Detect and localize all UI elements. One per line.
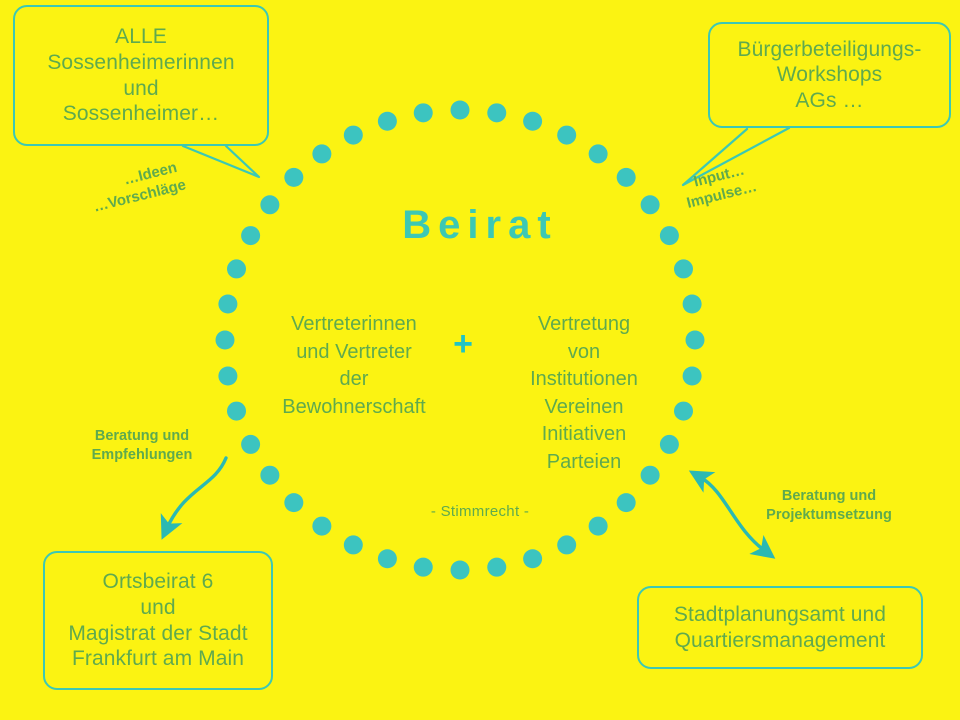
arrow-label-left-line-2: Empfehlungen [80,446,204,465]
ring-dot [216,331,235,350]
arrow-label-beratung-empfehlungen: Beratung und Empfehlungen [80,427,204,465]
ring-dot [557,535,576,554]
tail-label-ideen-vorschlaege: …Ideen …Vorschläge [122,158,188,209]
center-right-line-3: Institutionen [500,366,668,394]
center-left-line-1: Vertreterinnen [270,311,438,339]
ring-dot [241,435,260,454]
bubble-citizens-line-4: Sossenheimer… [63,101,220,127]
bubble-workshops-line-3: AGs … [795,88,863,114]
center-right-line-1: Vertretung [500,311,668,339]
ring-dot [686,331,705,350]
arrow-label-left-line-1: Beratung und [80,427,204,446]
ring-dot [451,101,470,120]
box-ortsbeirat-line-4: Frankfurt am Main [72,646,244,672]
box-stadtplanung-line-2: Quartiersmanagement [675,628,886,654]
center-column-left: Vertreterinnen und Vertreter der Bewohne… [270,311,438,421]
box-ortsbeirat-line-1: Ortsbeirat 6 [103,569,214,595]
center-left-line-4: Bewohnerschaft [270,394,438,422]
bubble-citizens-line-2: Sossenheimerinnen [47,50,234,76]
center-right-line-6: Parteien [500,449,668,477]
arrow-label-beratung-projektumsetzung: Beratung und Projektumsetzung [746,487,912,525]
center-title-beirat: Beirat [0,203,960,248]
box-ortsbeirat-magistrat[interactable]: Ortsbeirat 6 und Magistrat der Stadt Fra… [43,551,273,690]
ring-dot [683,366,702,385]
box-ortsbeirat-line-3: Magistrat der Stadt [68,621,247,647]
bubble-citizens-line-1: ALLE [115,24,167,50]
ring-dot [683,295,702,314]
ring-dot [487,558,506,577]
center-right-line-5: Initiativen [500,421,668,449]
ring-dot [617,168,636,187]
ring-dot [557,126,576,145]
ring-dot [218,295,237,314]
center-left-line-3: der [270,366,438,394]
center-right-line-2: von [500,339,668,367]
speech-bubble-workshops[interactable]: Bürgerbeteiligungs- Workshops AGs … [708,22,951,128]
bubble-workshops-line-1: Bürgerbeteiligungs- [737,37,921,63]
ring-dot [378,549,397,568]
ring-dot [260,466,279,485]
ring-dot [227,402,246,421]
ring-dot [344,126,363,145]
arrow-label-right-line-1: Beratung und [746,487,912,506]
center-left-line-2: und Vertreter [270,339,438,367]
ring-dot [284,168,303,187]
center-right-line-4: Vereinen [500,394,668,422]
bubble-citizens-line-3: und [123,76,158,102]
ring-dot [674,402,693,421]
ring-dot [487,103,506,122]
arrow-label-right-line-2: Projektumsetzung [746,506,912,525]
ring-dot [674,259,693,278]
ring-dot [344,535,363,554]
box-stadtplanungsamt-quartiersmanagement[interactable]: Stadtplanungsamt und Quartiersmanagement [637,586,923,669]
ring-dot [414,558,433,577]
ring-dot [451,561,470,580]
speech-bubble-citizens[interactable]: ALLE Sossenheimerinnen und Sossenheimer… [13,5,269,146]
ring-dot [227,259,246,278]
box-stadtplanung-line-1: Stadtplanungsamt und [674,602,886,628]
ring-dot [312,144,331,163]
ring-dot [218,366,237,385]
ring-dot [589,144,608,163]
box-ortsbeirat-line-2: und [140,595,175,621]
plus-operator-icon: + [448,327,478,361]
bubble-workshops-line-2: Workshops [777,62,883,88]
ring-dot [414,103,433,122]
ring-dot [523,112,542,131]
center-column-right: Vertretung von Institutionen Vereinen In… [500,311,668,477]
ring-dot [378,112,397,131]
bubble-tail-citizens [183,146,259,177]
diagram-canvas: ALLE Sossenheimerinnen und Sossenheimer…… [0,0,960,720]
ring-dot [523,549,542,568]
